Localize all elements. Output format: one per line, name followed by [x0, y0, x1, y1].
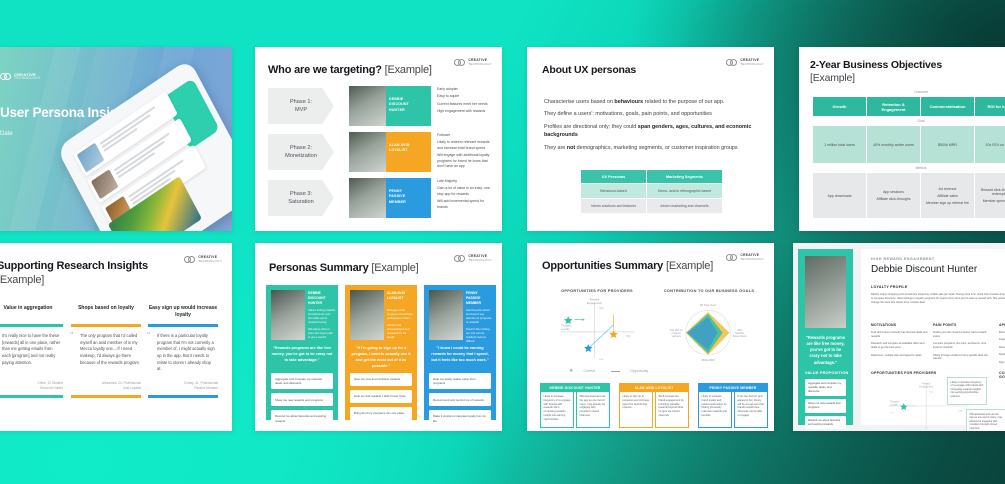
persona-need-item: Give me new and exclusive rewards [350, 373, 412, 386]
research-quote: If there is a particular loyalty program… [157, 333, 216, 373]
research-heading: Easy sign up would increase loyalty [148, 305, 218, 319]
svg-text:Low: Low [890, 412, 894, 414]
table-header-row: UX PersonasMarketing Segments [581, 170, 723, 184]
persona-column-list: Find which store currently has the best … [871, 331, 929, 361]
persona-need-item: Help me find rewards I didn't know I had [350, 390, 412, 403]
band-label: Metrics [813, 166, 1005, 170]
persona-column-item: Complex programs, fine print, exclusions… [933, 342, 991, 350]
persona-card[interactable]: DEBBIE DISCOUNT HUNTERValues finding rew… [266, 285, 338, 420]
logo-rings-icon [0, 73, 12, 80]
phase-bullet: Current features meet her needs [437, 102, 493, 107]
objectives-goal-cell: 40% monthly active users [867, 126, 920, 163]
persona-name: DEBBIE DISCOUNT HUNTER [389, 97, 431, 113]
research-color-bar [71, 324, 141, 327]
persona-name: PENNY PASSIVE MEMBER [389, 189, 431, 205]
footer-card-body: Likely to increase brand loyalty and rew… [698, 392, 768, 428]
table-row: Behaviour-basedDemo- and/or ethnographic… [581, 184, 723, 199]
svg-text:High: High [626, 335, 632, 338]
legend-label: Opportunity [630, 369, 648, 373]
persona-photo [349, 86, 386, 126]
objectives-metric-item: Reward click-throughs and redemptions [979, 188, 1005, 196]
persona-need-item: Bring all of my programs into one place [350, 407, 412, 420]
research-attribution: Christy, 41, Professional Passive Member [148, 381, 218, 391]
objectives-metric-cell: App sessionsAffiliate click-throughs [867, 173, 920, 218]
svg-text:Program: Program [561, 324, 571, 328]
persona-name: DEBBIE DISCOUNT HUNTER [308, 291, 335, 306]
persona-trait: Will adjust what or when she buys order … [308, 328, 335, 340]
persona-column-item: Finding out she missed a deal or had a r… [933, 331, 991, 339]
svg-text:Loyalty: Loyalty [890, 403, 898, 406]
svg-text:Low: Low [599, 358, 604, 361]
value-proposition-list: Aggregate and compare my rewards, deals,… [805, 379, 846, 431]
slide-persona-detail[interactable]: "Rewards programs are like free money, y… [793, 243, 1005, 431]
footer-card-item: Will download and use the app as one too… [576, 392, 610, 428]
research-color-bar [0, 395, 63, 398]
slide-about-ux-personas[interactable]: CREATIVETECHNOLOGY About UX personas Cha… [527, 47, 774, 231]
band-label: Outcome [813, 90, 1005, 94]
value-prop-item: Show me new rewards and programs [805, 399, 846, 413]
logo-sub: TECHNOLOGY [740, 258, 764, 261]
svg-text:High: High [599, 307, 605, 310]
persona-need-item: Recommend and remind me of rewards [429, 393, 491, 406]
phase-bullet: Gain a lot of value in an easy, one-stop… [437, 186, 493, 197]
logo-rings-icon [726, 254, 738, 261]
footer-card-item: Likely to sign up to programs and increa… [619, 392, 653, 428]
logo-rings-icon [454, 59, 466, 66]
persona-quote: "If I'm going to sign up for a program, … [350, 345, 412, 369]
persona-name: ALAN AVID LOYALIST [389, 143, 431, 154]
slide-opportunities-summary[interactable]: CREATIVETECHNOLOGY Opportunities Summary… [527, 243, 774, 431]
persona-column-item: Keep track of all programs in one place [999, 338, 1005, 342]
logo-rings-icon [184, 256, 196, 263]
phase-bullet: Easy to aquire [437, 94, 493, 99]
about-paragraph: Characterise users based on behaviours r… [544, 98, 758, 107]
slide-business-objectives[interactable]: 2-Year Business Objectives[Example] Outc… [799, 47, 1005, 231]
footer-card-item: We'll increase his brand engagement by p… [655, 392, 689, 428]
svg-text:$500k MRR: $500k MRR [701, 359, 714, 362]
objectives-goal-cell: 1 million total users [813, 126, 866, 163]
opportunity-quadrant-chart: Reward Engagement High Low Program Loyal… [549, 297, 645, 365]
persona-trait: Values finding rewards and discounts ove… [308, 309, 335, 325]
persona-needs: Give me new and exclusive rewardsHelp me… [350, 373, 412, 424]
emphasis: behaviours [614, 99, 643, 105]
brand-logo: CREATIVETECHNOLOGY [454, 59, 492, 66]
slide-who-are-we-targeting[interactable]: CREATIVETECHNOLOGY Who are we targeting?… [255, 47, 502, 231]
persona-sidebar: "Rewards programs are like free money, y… [798, 249, 853, 425]
chart-annotation: Will download and use the app as one too… [966, 409, 1005, 431]
quote-mark-icon: “ [70, 332, 74, 339]
research-attribution: Alexandra, 24, Professional Avid Loyalis… [71, 381, 141, 391]
objectives-metric-item: Affiliate click-throughs [877, 197, 911, 201]
persona-photo [349, 132, 386, 172]
page-title: About UX personas [542, 64, 636, 76]
svg-text:High: High [929, 391, 934, 393]
objectives-header-cell: Growth [813, 97, 866, 116]
personas-vs-segments-table: UX PersonasMarketing SegmentsBehaviour-b… [580, 169, 723, 214]
persona-name: Debbie Discount Hunter [871, 264, 977, 275]
legend-label: Current [583, 369, 595, 373]
star-icon: ★ [569, 368, 573, 374]
footer-card-item: Likely to increase brand loyalty and rew… [698, 392, 732, 428]
persona-column-item: Sign up to new programs [999, 361, 1005, 365]
persona-column-item: Sifting through emails to find a specifi… [933, 354, 991, 362]
phase-bullet: Late Majority [437, 179, 493, 184]
chart-heading-contribution: CONTRIBUTION TO OUR BUSINESS GOALS [657, 288, 761, 293]
persona-column-item: Find which store currently has the best … [871, 331, 929, 339]
research-quote: The only program that I'd called myself … [80, 333, 139, 366]
persona-needs: Aggregate and compare my rewards, deals,… [271, 373, 333, 431]
table-cell: Inform solutions and features [581, 199, 647, 214]
svg-text:partners: partners [672, 335, 682, 338]
persona-column-list: Browse rewards to get offersKeep track o… [999, 331, 1005, 368]
persona-column-item: Research and compare all available offer… [871, 342, 929, 350]
emphasis: not [567, 145, 575, 151]
persona-traits: Belongs to that programs but actively pa… [387, 309, 414, 343]
page-title: Who are we targeting? [Example] [268, 64, 432, 76]
svg-text:Engagement: Engagement [919, 386, 933, 389]
persona-eyebrow: HIGH REWARD ENGAGEMENT [871, 257, 935, 261]
phase-bullet: Likely to redeem relevant rewards and in… [437, 140, 493, 151]
svg-text:Reward: Reward [590, 297, 600, 301]
objectives-metric-item: App sessions [883, 190, 904, 194]
persona-column-heading: MOTIVATIONS [871, 323, 896, 327]
table-header-cell: UX Personas [581, 170, 647, 184]
arrow-icon [611, 371, 620, 372]
business-goals-radar-chart: 1M Total Users 40% Monthly Active Users … [655, 295, 761, 367]
research-color-bar [0, 324, 63, 327]
svg-text:Engagement: Engagement [587, 301, 602, 305]
persona-traits: Values finding rewards and discounts ove… [308, 309, 335, 343]
loyalty-profile-heading: LOYALTY PROFILE [871, 285, 908, 289]
objectives-metric-item: Member sign up referral fee [926, 201, 969, 205]
page-title: Personas Summary [Example] [269, 262, 419, 274]
persona-name: PENNY PASSIVE MEMBER [466, 291, 493, 306]
persona-trait: Has favourite stores but doesn't pay att… [466, 309, 493, 325]
table-cell: Behaviour-based [581, 184, 647, 199]
phase-bullet: Will add incremental spend for brands [437, 199, 493, 210]
persona-photo [271, 290, 305, 340]
loyalty-profile-text: Debbie enjoys shopping and sometimes sho… [871, 293, 1005, 305]
persona-column-heading: PAIN POINTS [933, 323, 957, 327]
research-heading: Shops based on loyalty [71, 305, 141, 312]
brand-logo: CREATIVETECHNOLOGY [184, 256, 222, 263]
persona-quote: "I know I could be earning rewards for m… [429, 345, 491, 363]
objectives-metric-item: Affiliate sales [937, 194, 958, 198]
persona-need-item: Make it simple to integrate loyalty into… [429, 410, 491, 426]
brand-logo: CREATIVE TECHNOLOGY [0, 73, 41, 81]
objectives-metric-cell: App downloads [813, 173, 866, 218]
persona-card[interactable]: ALAN AVID LOYALISTBelongs to that progra… [345, 285, 417, 420]
chart-legend: ★CurrentOpportunity [569, 368, 648, 374]
footer-card-item: Likely to increase frequency of re-engag… [540, 392, 574, 428]
svg-text:Low: Low [924, 427, 928, 429]
persona-column-heading: APP GOALS [999, 323, 1005, 327]
objectives-metric-cell: Reward click-throughs and redemptionsMem… [975, 173, 1005, 218]
opportunities-heading: OPPORTUNITIES FOR PROVIDERS [871, 371, 937, 375]
svg-text:1M Total Users: 1M Total Users [700, 304, 717, 307]
objectives-goal-cell: 10x ROI on rewards [975, 126, 1005, 163]
persona-trait: Belongs to that programs but actively pa… [387, 309, 414, 321]
svg-text:High: High [958, 410, 963, 412]
brand-logo: CREATIVETECHNOLOGY [726, 254, 764, 261]
about-paragraph: Profiles are directional only; they coul… [544, 123, 758, 141]
table-header-cell: Marketing Segments [646, 170, 722, 184]
phase-chevron: Phase 2: Monetization [268, 134, 334, 170]
logo-rings-icon [726, 59, 738, 66]
phase-bullets: FollowerLikely to redeem relevant reward… [437, 133, 493, 172]
table-row: Inform solutions and featuresInform mark… [581, 199, 723, 214]
persona-name: ALAN AVID LOYALIST [387, 291, 414, 301]
objectives-header-cell: Commercialisation [921, 97, 974, 116]
phase-bullet: High engagement with rewards [437, 109, 493, 114]
footer-card-body: Likely to increase frequency of re-engag… [540, 392, 610, 428]
brand-logo: CREATIVETECHNOLOGY [726, 59, 764, 66]
persona-need-item: Remind me about favourite and expiring r… [271, 410, 333, 426]
page-title: 2-Year Business Objectives[Example] [810, 59, 942, 85]
phase-bullets: Early adopterEasy to aquireCurrent featu… [437, 87, 493, 117]
persona-column-item: Browse rewards to get offers [999, 331, 1005, 335]
value-proposition-heading: VALUE PROPOSITION [805, 371, 848, 375]
logo-sub: TECHNOLOGY [14, 77, 41, 81]
about-paragraphs: Characterise users based on behaviours r… [544, 98, 758, 156]
persona-column-item: Receive get notified about expiring rewa… [999, 346, 1005, 350]
logo-sub: TECHNOLOGY [468, 63, 492, 66]
persona-trait: Wants to be acknowledged and rewarded fo… [387, 324, 414, 340]
footer-card-body: Likely to sign up to programs and increa… [619, 392, 689, 428]
objectives-metric-item: App downloads [828, 194, 852, 198]
objectives-header-cell: ROI for brands [975, 97, 1005, 116]
about-paragraph: They are not demographics, marketing seg… [544, 144, 758, 153]
slide-user-persona-insights[interactable]: CREATIVE TECHNOLOGY User Persona Insight… [0, 47, 232, 231]
footer-card-header: PENNY PASSIVE MEMBER [698, 383, 768, 392]
logo-sub: TECHNOLOGY [468, 259, 492, 262]
persona-photo [805, 256, 846, 328]
persona-need-item: Help me easily realise value from progra… [429, 373, 491, 389]
chart-heading-opportunities: OPPORTUNITIES FOR PROVIDERS [549, 288, 645, 293]
brand-logo: CREATIVETECHNOLOGY [454, 255, 492, 262]
page-title: Supporting Research Insights[Example] [0, 259, 148, 288]
phase-bullet: Early adopter [437, 87, 493, 92]
svg-text:Active Users: Active Users [733, 335, 748, 338]
svg-text:Program: Program [890, 400, 899, 403]
persona-quote: "Rewards programs are like free money, y… [805, 335, 846, 366]
contribution-heading: CONTRIBUTION TO OUR BUSINESS GOALS [999, 371, 1005, 379]
loyalty-profile-paragraph: Debbie enjoys shopping and sometimes sho… [871, 293, 1005, 305]
persona-photo [429, 290, 463, 340]
slide-supporting-research[interactable]: CREATIVETECHNOLOGY Supporting Research I… [0, 243, 232, 431]
research-quote: It's really nice to have the these [rewa… [2, 333, 61, 366]
slide-personas-summary[interactable]: CREATIVETECHNOLOGY Personas Summary [Exa… [255, 243, 502, 431]
persona-card[interactable]: PENNY PASSIVE MEMBERHas favourite stores… [424, 285, 496, 420]
logo-sub: TECHNOLOGY [740, 63, 764, 66]
research-attribution: Chloe, 22 Student Discount Hunter [0, 381, 63, 391]
persona-column-item: Needless to rewards for a retailer she l… [999, 353, 1005, 357]
table-cell: Demo- and/or ethnographic based [646, 184, 722, 199]
emphasis: span genders, ages, cultures, and econom… [544, 124, 751, 139]
footer-card-header: ALAN AVID LOYALIST [619, 383, 689, 392]
phase-chevron: Phase 1: MVP [268, 88, 334, 124]
footer-card-item: If we can find her and appeal to her, Pe… [734, 392, 768, 428]
band-label: Goal [813, 119, 1005, 123]
research-color-bar [148, 395, 218, 398]
value-prop-item: Aggregate and compare my rewards, deals,… [805, 379, 846, 396]
persona-traits: Has favourite stores but doesn't pay att… [466, 309, 493, 347]
objectives-metric-cell: Ad revenueAffiliate salesMember sign up … [921, 173, 974, 218]
objectives-header-cell: Retention & Engagement [867, 97, 920, 116]
logo-rings-icon [454, 255, 466, 262]
page-title: Opportunities Summary [Example] [542, 260, 713, 272]
footer-card-header: DEBBIE DISCOUNT HUNTER [540, 383, 610, 392]
persona-need-item: Aggregate and compare my rewards, deals,… [271, 373, 333, 389]
research-color-bar [148, 324, 218, 327]
persona-photo [349, 178, 386, 218]
chart-annotation: Likely to increase frequency of re-engag… [947, 377, 987, 405]
persona-quote: "Rewards programs are like free money, y… [271, 345, 333, 363]
phase-bullet: Follower [437, 133, 493, 138]
phase-bullet: Will engage with additional loyalty prog… [437, 153, 493, 169]
table-cell: Inform marketing and channels [646, 199, 722, 214]
research-heading: Value in aggregation [0, 305, 63, 312]
value-prop-item: Remind me about favourite and expiring r… [805, 416, 846, 430]
persona-column-list: Finding out she missed a deal or had a r… [933, 331, 991, 365]
persona-needs: Help me easily realise value from progra… [429, 373, 491, 431]
persona-need-item: Show me new rewards and programs [271, 393, 333, 406]
objectives-goal-cell: $500k MRR [921, 126, 974, 163]
persona-radar-chart: 1M Total Users $500k MRR [1001, 379, 1005, 431]
about-paragraph: They define a users': motivations, goals… [544, 110, 758, 119]
persona-trait: Doesn't like missing out, but current so… [466, 328, 493, 344]
objectives-metric-item: Member spend increase [983, 199, 1005, 203]
persona-detail-body: HIGH REWARD ENGAGEMENT Debbie Discount H… [861, 249, 1005, 425]
objectives-metric-item: Ad revenue [939, 187, 957, 191]
quote-mark-icon: “ [147, 332, 151, 339]
phase-chevron: Phase 3: Saturation [268, 180, 334, 216]
persona-column-item: Reference: multiple sites and apps for d… [871, 354, 929, 358]
logo-sub: TECHNOLOGY [198, 260, 222, 263]
cover-date: Date [0, 131, 13, 137]
persona-photo [350, 290, 384, 340]
svg-text:Loyalty: Loyalty [561, 327, 570, 331]
research-color-bar [71, 395, 141, 398]
phase-bullets: Late MajorityGain a lot of value in an e… [437, 179, 493, 212]
